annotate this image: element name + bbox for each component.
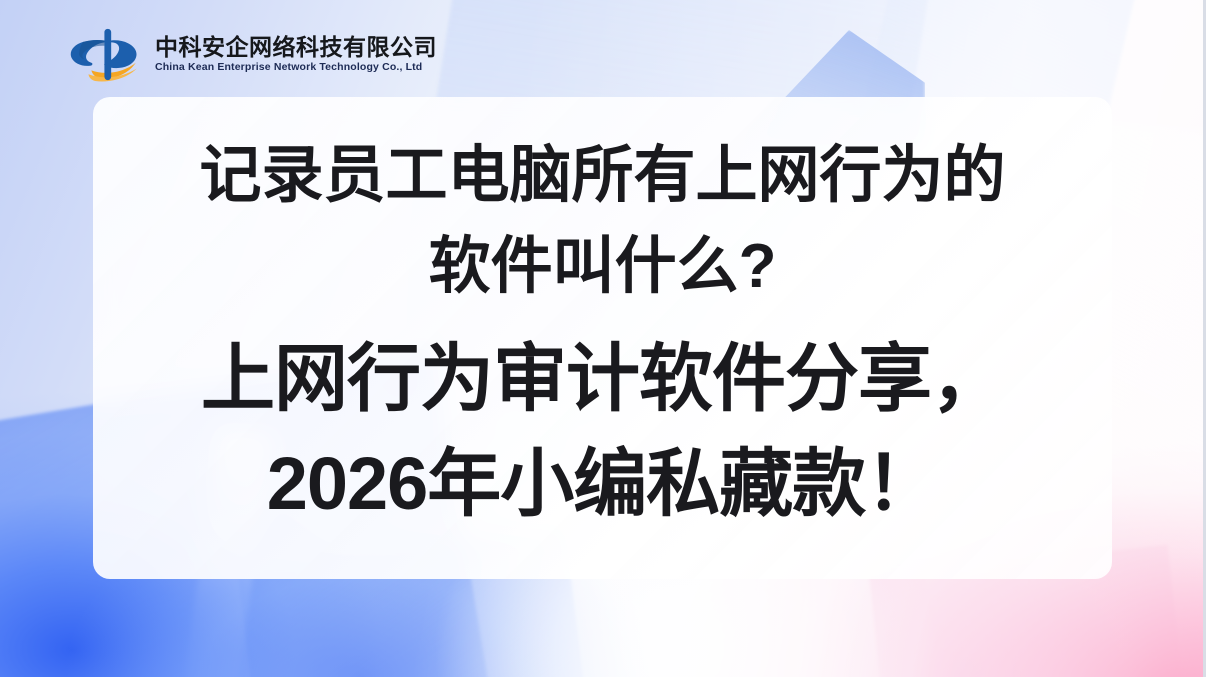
headline-answer-line-1: 上网行为审计软件分享， [119, 326, 1086, 431]
brand-header: 中科安企网络科技有限公司 China Kean Enterprise Netwo… [63, 26, 437, 82]
headline-question-line-2: 软件叫什么? [119, 221, 1086, 312]
brand-text-block: 中科安企网络科技有限公司 China Kean Enterprise Netwo… [155, 34, 437, 74]
headline-question: 记录员工电脑所有上网行为的 软件叫什么? [119, 130, 1086, 312]
headline-answer-line-2: 2026年小编私藏款！ [119, 431, 1086, 536]
promo-banner: 中科安企网络科技有限公司 China Kean Enterprise Netwo… [0, 0, 1206, 677]
company-name-cn: 中科安企网络科技有限公司 [155, 34, 437, 60]
company-logo-icon [63, 26, 141, 82]
company-name-en: China Kean Enterprise Network Technology… [155, 62, 437, 74]
headline-answer: 上网行为审计软件分享， 2026年小编私藏款！ [119, 326, 1086, 536]
headline-question-line-1: 记录员工电脑所有上网行为的 [119, 130, 1086, 221]
headline-card: 记录员工电脑所有上网行为的 软件叫什么? 上网行为审计软件分享， 2026年小编… [93, 97, 1112, 579]
